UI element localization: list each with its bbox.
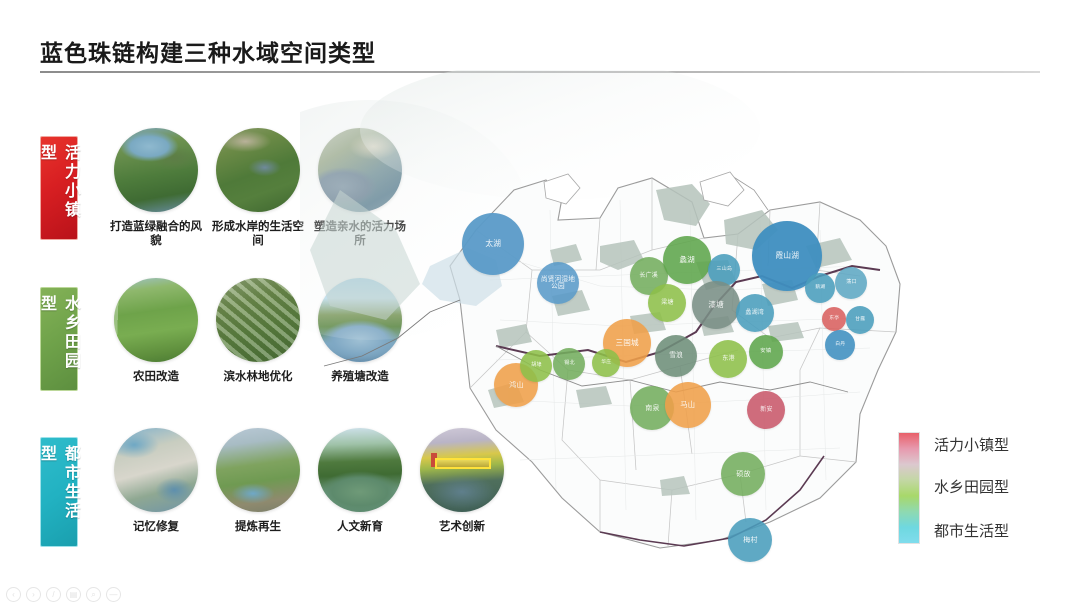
- photo-caption: 农田改造: [108, 369, 204, 383]
- map-marker-label: 白丹: [835, 342, 845, 347]
- map-marker-label: 梅村: [743, 536, 757, 543]
- aerial-woodland-image: [216, 278, 300, 362]
- map-marker[interactable]: 锡北: [553, 348, 585, 380]
- waterfront-old-town-image: [114, 428, 198, 512]
- map-marker[interactable]: 新安: [747, 391, 785, 429]
- photo-caption: 提炼再生: [210, 519, 306, 533]
- photo-item: 记忆修复: [108, 428, 204, 533]
- slide-header: 蓝色珠链构建三种水域空间类型: [40, 42, 1040, 67]
- map-marker-label: 安镇: [760, 349, 771, 355]
- map-marker[interactable]: 鹅湖: [805, 273, 835, 303]
- regional-water-system-map[interactable]: 太湖尚贤河湿地公园长广溪蠡湖梁塘三山岛漆塘蠡湖湾霞山湖鹅湖荡口东亭甘露白丹三国城…: [300, 70, 940, 570]
- map-marker-label: 鹅湖: [815, 285, 825, 290]
- map-marker[interactable]: 蠡湖湾: [736, 294, 774, 332]
- aerial-lake-forest-image: [114, 128, 198, 212]
- landscaped-park-image: [216, 428, 300, 512]
- next-slide-icon[interactable]: ›: [26, 587, 41, 602]
- category-tag-water-countryside: 水乡田园型: [40, 287, 78, 391]
- map-marker[interactable]: 胡埭: [520, 350, 552, 382]
- map-marker-label: 马山: [681, 401, 696, 409]
- map-marker[interactable]: 漆塘: [692, 281, 740, 329]
- presentation-slide: 蓝色珠链构建三种水域空间类型 活力小镇型 水乡田园型 都市生活型 打造蓝绿融合的…: [0, 0, 1080, 608]
- legend-label-water-countryside: 水乡田园型: [934, 476, 1009, 497]
- category-tag-vibrant-town: 活力小镇型: [40, 136, 78, 240]
- slide-menu-icon[interactable]: ▤: [66, 587, 81, 602]
- map-marker-label: 东港: [722, 356, 734, 362]
- photo-item: 形成水岸的生活空间: [210, 128, 306, 248]
- map-marker[interactable]: 硕放: [721, 452, 765, 496]
- page-title: 蓝色珠链构建三种水域空间类型: [40, 42, 1040, 67]
- map-marker-label: 胡埭: [531, 363, 542, 368]
- map-marker[interactable]: 蠡湖: [663, 236, 711, 284]
- map-legend: 活力小镇型 水乡田园型 都市生活型: [898, 432, 1073, 550]
- map-marker[interactable]: 安镇: [749, 335, 783, 369]
- legend-label-urban-life: 都市生活型: [934, 520, 1009, 541]
- photo-item: 滨水林地优化: [210, 278, 306, 383]
- map-marker-label: 东亭: [829, 316, 839, 321]
- map-marker[interactable]: 雪浪: [655, 335, 697, 377]
- map-marker[interactable]: 华庄: [592, 349, 620, 377]
- map-marker-label: 甘露: [855, 317, 865, 322]
- map-marker-label: 霞山湖: [775, 252, 799, 260]
- map-marker-label: 蠡湖: [679, 256, 695, 264]
- map-marker-label: 荡口: [846, 280, 857, 285]
- photo-caption: 记忆修复: [108, 519, 204, 533]
- photo-item: 农田改造: [108, 278, 204, 383]
- map-marker[interactable]: 梅村: [728, 518, 772, 562]
- map-marker[interactable]: 尚贤河湿地公园: [537, 262, 579, 304]
- map-marker-label: 南泉: [645, 404, 659, 411]
- more-options-icon[interactable]: —: [106, 587, 121, 602]
- zoom-in-icon[interactable]: ⌕: [86, 587, 101, 602]
- map-marker[interactable]: 太湖: [462, 213, 524, 275]
- aerial-village-hill-image: [216, 128, 300, 212]
- map-marker[interactable]: 梁塘: [648, 284, 686, 322]
- legend-label-vibrant-town: 活力小镇型: [934, 434, 1009, 455]
- map-marker-label: 太湖: [485, 240, 501, 248]
- map-marker-layer: 太湖尚贤河湿地公园长广溪蠡湖梁塘三山岛漆塘蠡湖湾霞山湖鹅湖荡口东亭甘露白丹三国城…: [300, 70, 940, 570]
- photo-caption: 打造蓝绿融合的风貌: [108, 219, 204, 248]
- map-marker[interactable]: 东港: [709, 340, 747, 378]
- map-marker-label: 漆塘: [708, 301, 724, 309]
- map-marker[interactable]: 白丹: [825, 330, 855, 360]
- aerial-farmland-image: [114, 278, 198, 362]
- map-marker-label: 雪浪: [669, 353, 683, 360]
- map-marker-label: 硕放: [736, 470, 750, 477]
- map-marker-label: 三山岛: [716, 267, 732, 272]
- photo-item: 打造蓝绿融合的风貌: [108, 128, 204, 248]
- map-marker-label: 锡北: [564, 361, 575, 366]
- photo-caption: 滨水林地优化: [210, 369, 306, 383]
- map-marker-label: 长广溪: [640, 273, 659, 279]
- map-marker-label: 三国城: [615, 339, 638, 347]
- slideshow-controls[interactable]: ‹ › / ▤ ⌕ —: [6, 587, 121, 602]
- map-marker[interactable]: 马山: [665, 382, 711, 428]
- previous-slide-icon[interactable]: ‹: [6, 587, 21, 602]
- map-marker-label: 新安: [760, 407, 772, 413]
- map-marker[interactable]: 甘露: [846, 306, 874, 334]
- pen-tool-icon[interactable]: /: [46, 587, 61, 602]
- photo-item: 提炼再生: [210, 428, 306, 533]
- map-marker-label: 鸿山: [509, 381, 523, 388]
- map-marker[interactable]: 东亭: [822, 307, 846, 331]
- map-marker-label: 蠡湖湾: [746, 310, 765, 316]
- map-marker-label: 梁塘: [661, 300, 673, 306]
- photo-caption: 形成水岸的生活空间: [210, 219, 306, 248]
- legend-gradient-bar: [898, 432, 920, 544]
- map-marker-label: 华庄: [601, 360, 611, 365]
- map-marker-label: 尚贤河湿地公园: [538, 276, 578, 290]
- map-marker[interactable]: 荡口: [835, 267, 867, 299]
- category-tag-urban-life: 都市生活型: [40, 437, 78, 547]
